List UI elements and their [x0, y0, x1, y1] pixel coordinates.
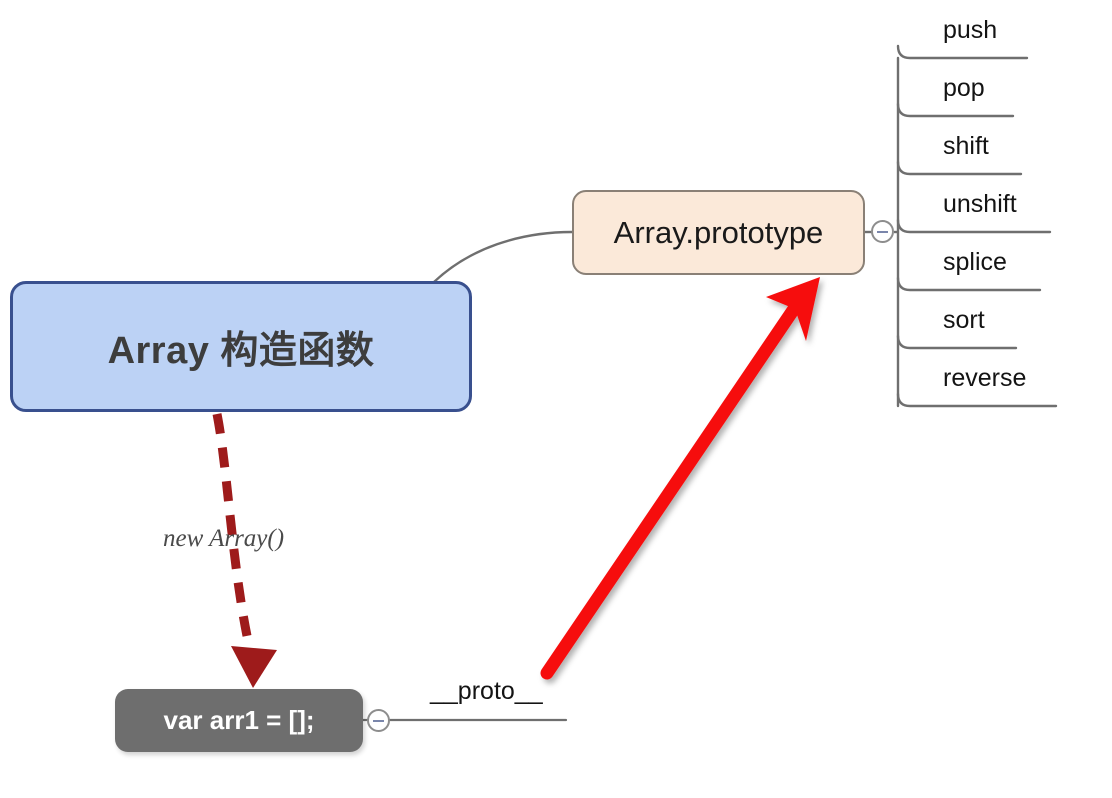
label-proto-link: __proto__ [430, 679, 543, 704]
branch-line [898, 220, 1050, 232]
branch-line [898, 278, 1040, 290]
node-instance-arr1[interactable]: var arr1 = []; [115, 689, 363, 752]
collapse-toggle-instance-icon[interactable] [367, 709, 390, 732]
branch-line [898, 162, 1021, 174]
annotation-arrow [547, 277, 820, 673]
node-array-constructor[interactable]: Array 构造函数 [10, 281, 472, 412]
mindmap-canvas: Array 构造函数 Array.prototype var arr1 = []… [0, 0, 1112, 798]
collapse-toggle-prototype-icon[interactable] [871, 220, 894, 243]
label-new-array: new Array() [163, 526, 284, 551]
branch-item-push[interactable]: push [943, 18, 997, 43]
connector-root-to-prototype [434, 232, 572, 282]
branch-item-pop[interactable]: pop [943, 76, 985, 101]
branch-line [898, 46, 1027, 58]
branch-line [898, 104, 1013, 116]
branch-line [898, 394, 1056, 406]
branch-item-shift[interactable]: shift [943, 134, 989, 159]
node-array-prototype[interactable]: Array.prototype [572, 190, 865, 275]
dashed-arrow-head [231, 646, 277, 688]
branch-item-splice[interactable]: splice [943, 250, 1007, 275]
branch-item-unshift[interactable]: unshift [943, 192, 1017, 217]
branch-item-sort[interactable]: sort [943, 308, 985, 333]
branch-item-reverse[interactable]: reverse [943, 366, 1026, 391]
branch-line [898, 336, 1016, 348]
